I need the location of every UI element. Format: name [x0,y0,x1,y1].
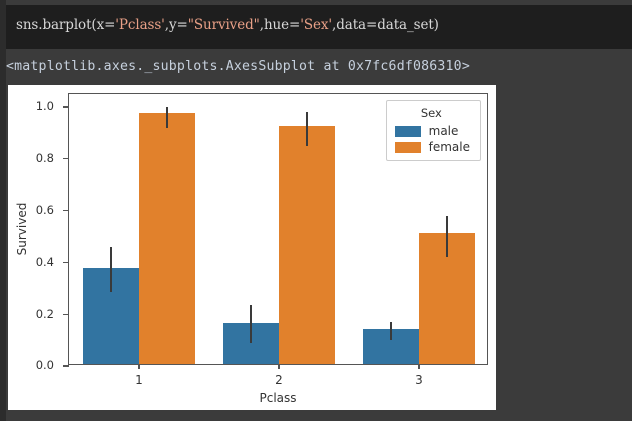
code-token-0: sns.barplot(x= [16,17,115,33]
legend: Sex malefemale [386,100,481,161]
y-tick-5: 1.0 [63,106,69,107]
y-tick-label-2: 0.4 [36,255,54,269]
y-axis-label: Survived [15,203,29,256]
notebook-screen: sns.barplot(x='Pclass',y="Survived",hue=… [0,0,632,421]
matplotlib-figure: Survived Pclass Sex malefemale 0.00.20.4… [8,85,496,410]
x-tick-1 [278,364,279,369]
errorbar-male-pclass-3 [390,322,393,340]
x-tick-label-2: 3 [415,373,423,387]
errorbar-female-pclass-1 [166,107,169,128]
plot-axes: Sex malefemale 0.00.20.40.60.81.0123 [68,93,488,365]
errorbar-female-pclass-3 [446,216,449,257]
y-tick-1: 0.2 [63,314,69,315]
x-axis-label: Pclass [259,391,296,405]
x-tick-2 [418,364,419,369]
x-tick-label-0: 1 [135,373,143,387]
legend-label-female: female [429,140,470,154]
code-line: sns.barplot(x='Pclass',y="Survived",hue=… [16,17,439,33]
legend-item-male: male [395,124,470,138]
errorbar-male-pclass-2 [250,305,253,343]
legend-swatch-female [395,142,421,153]
y-tick-label-0: 0.0 [36,358,54,372]
legend-item-female: female [395,140,470,154]
code-token-4: ,hue= [260,17,300,33]
y-tick-0: 0.0 [63,365,69,366]
y-tick-label-1: 0.2 [36,307,54,321]
y-tick-label-3: 0.6 [36,203,54,217]
cell-output-text: <matplotlib.axes._subplots.AxesSubplot a… [6,59,470,74]
legend-title: Sex [395,106,470,120]
x-tick-label-1: 2 [275,373,283,387]
code-token-5: 'Sex' [300,17,332,33]
bar-female-pclass-1 [139,113,195,364]
code-token-2: ,y= [165,17,188,33]
x-tick-0 [138,364,139,369]
code-token-1: 'Pclass' [115,17,165,33]
code-token-3: "Survived" [188,17,260,33]
y-tick-4: 0.8 [63,158,69,159]
y-tick-3: 0.6 [63,210,69,211]
y-tick-label-4: 0.8 [36,151,54,165]
y-tick-2: 0.4 [63,262,69,263]
y-tick-label-5: 1.0 [36,99,54,113]
legend-label-male: male [429,124,459,138]
code-cell[interactable]: sns.barplot(x='Pclass',y="Survived",hue=… [6,5,632,49]
bar-female-pclass-2 [279,126,335,364]
errorbar-female-pclass-2 [306,112,309,146]
legend-swatch-male [395,126,421,137]
errorbar-male-pclass-1 [110,247,113,292]
code-token-6: ,data=data_set) [332,17,439,33]
